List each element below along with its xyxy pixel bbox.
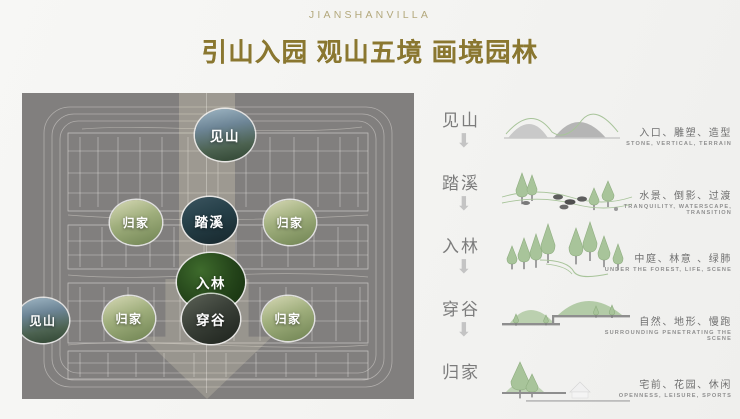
journey-stage-name: 见山 xyxy=(442,106,480,131)
plan-bubble-label: 归家 xyxy=(115,310,142,327)
journey-panel: 见山入口、雕塑、造型STONE, VERTICAL, TERRAIN⬇踏溪水景、… xyxy=(440,98,732,398)
journey-desc-cn: 自然、地形、慢跑 xyxy=(600,313,732,328)
journey-stage-name: 踏溪 xyxy=(442,169,480,194)
journey-desc-en: OPENNESS, LEISURE, SPORTS xyxy=(600,393,732,399)
journey-stage-4[interactable]: 穿谷自然、地形、慢跑SURROUNDING PENETRATING THE SC… xyxy=(440,287,732,349)
journey-arrow-down-icon: ⬇ xyxy=(456,195,470,217)
plan-bubble-label: 入林 xyxy=(196,272,226,292)
journey-stage-description: 宅前、花园、休闲OPENNESS, LEISURE, SPORTS xyxy=(600,376,732,399)
journey-stage-name: 穿谷 xyxy=(442,295,480,320)
journey-arrow-down-icon: ⬇ xyxy=(456,321,470,343)
journey-desc-cn: 入口、雕塑、造型 xyxy=(600,124,732,139)
journey-desc-en: TRANQUILITY, WATERSCAPE, TRANSITION xyxy=(600,204,732,216)
content-area: 见山归家踏溪归家入林见山归家穿谷归家 见山入口、雕塑、造型STONE, VERT… xyxy=(0,88,740,419)
plan-bubble-valley[interactable]: 穿谷 xyxy=(182,294,240,344)
journey-stage-description: 中庭、林意 、绿肺UNDER THE FOREST, LIFE, SCENE xyxy=(600,250,732,273)
plan-bubble-label: 见山 xyxy=(210,125,240,145)
journey-stage-description: 入口、雕塑、造型STONE, VERTICAL, TERRAIN xyxy=(600,124,732,147)
journey-stage-2[interactable]: 踏溪水景、倒影、过渡TRANQUILITY, WATERSCAPE, TRANS… xyxy=(440,161,732,223)
brand-latin-name: JIANSHANVILLA xyxy=(0,9,740,21)
journey-stage-name: 入林 xyxy=(442,232,480,257)
journey-desc-en: UNDER THE FOREST, LIFE, SCENE xyxy=(600,267,732,273)
page-header: JIANSHANVILLA 引山入园 观山五境 画境园林 xyxy=(0,0,740,69)
plan-bubble-label: 穿谷 xyxy=(196,309,226,329)
journey-stage-5[interactable]: 归家宅前、花园、休闲OPENNESS, LEISURE, SPORTS xyxy=(440,350,732,412)
plan-bubble-label: 归家 xyxy=(274,310,301,327)
plan-bubble-label: 见山 xyxy=(29,312,56,329)
plan-bubble-stream[interactable]: 踏溪 xyxy=(182,197,237,244)
plan-bubble-home[interactable]: 归家 xyxy=(103,296,155,341)
journey-desc-cn: 水景、倒影、过渡 xyxy=(600,187,732,202)
plan-bubble-mountain[interactable]: 见山 xyxy=(195,109,255,161)
journey-stage-description: 水景、倒影、过渡TRANQUILITY, WATERSCAPE, TRANSIT… xyxy=(600,187,732,216)
plan-bubble-label: 踏溪 xyxy=(195,211,225,231)
master-plan-drawing: 见山归家踏溪归家入林见山归家穿谷归家 xyxy=(22,93,414,399)
page-title: 引山入园 观山五境 画境园林 xyxy=(0,32,740,69)
plan-bubble-label: 归家 xyxy=(122,214,149,231)
plan-bubble-home[interactable]: 归家 xyxy=(262,296,314,341)
journey-desc-en: STONE, VERTICAL, TERRAIN xyxy=(600,141,732,147)
journey-desc-cn: 宅前、花园、休闲 xyxy=(600,376,732,391)
journey-stage-3[interactable]: 入林中庭、林意 、绿肺UNDER THE FOREST, LIFE, SCENE… xyxy=(440,224,732,286)
journey-stage-1[interactable]: 见山入口、雕塑、造型STONE, VERTICAL, TERRAIN⬇ xyxy=(440,98,732,160)
plan-bubble-label: 归家 xyxy=(276,214,303,231)
journey-desc-en: SURROUNDING PENETRATING THE SCENE xyxy=(600,330,732,342)
master-plan-panel[interactable]: 见山归家踏溪归家入林见山归家穿谷归家 xyxy=(22,93,414,399)
journey-arrow-down-icon: ⬇ xyxy=(456,132,470,154)
journey-stage-name: 归家 xyxy=(442,358,480,383)
journey-arrow-down-icon: ⬇ xyxy=(456,258,470,280)
journey-desc-cn: 中庭、林意 、绿肺 xyxy=(600,250,732,265)
plan-bubble-home[interactable]: 归家 xyxy=(264,200,316,245)
plan-bubble-home[interactable]: 归家 xyxy=(110,200,162,245)
journey-stage-description: 自然、地形、慢跑SURROUNDING PENETRATING THE SCEN… xyxy=(600,313,732,342)
